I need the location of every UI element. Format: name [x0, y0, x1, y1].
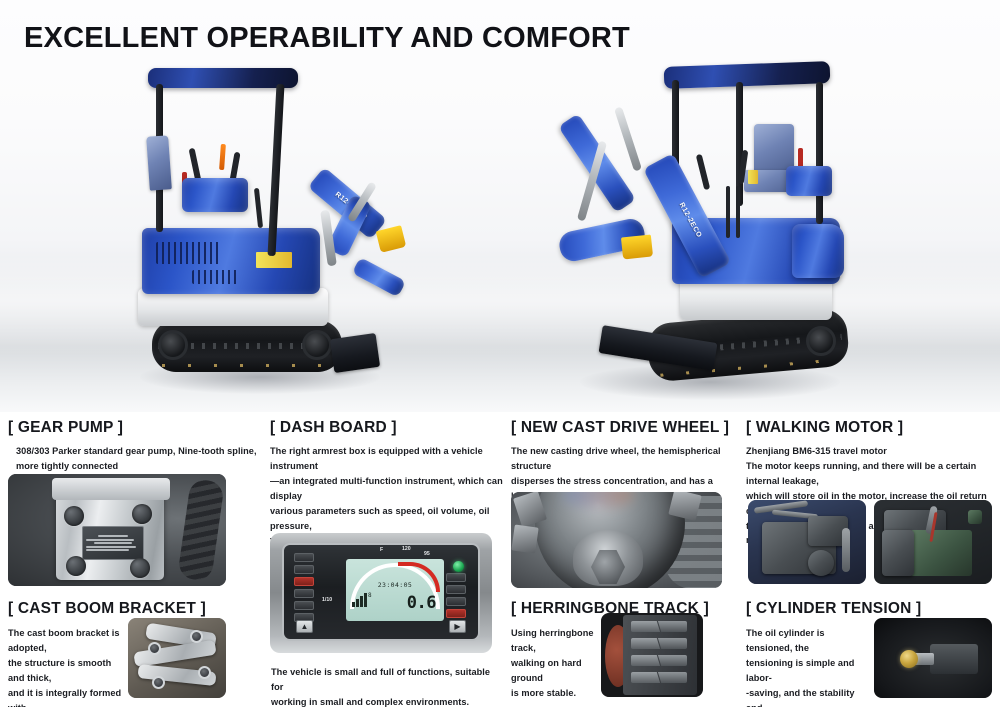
- drive-wheel-photo: [511, 492, 722, 588]
- right-bucket: [621, 234, 653, 259]
- right-canopy-post-rr: [816, 82, 823, 224]
- section-body: The cast boom bracket is adopted, the st…: [8, 626, 126, 707]
- lcd-small-readout: 8: [368, 592, 372, 599]
- pump-bolt: [66, 556, 86, 576]
- body-line: is more stable.: [511, 686, 601, 701]
- body-line: The new casting drive wheel, the hemisph…: [511, 444, 735, 474]
- brochure-page: EXCELLENT OPERABILITY AND COMFORT: [0, 0, 1000, 707]
- tension-cylinder: [930, 644, 978, 674]
- section-title: [ DASH BOARD ]: [270, 419, 506, 437]
- body-line: tensioning is simple and labor-: [746, 656, 866, 686]
- gauge-mark-120: 120: [402, 546, 411, 552]
- right-bucket-cylinder: [614, 106, 642, 171]
- left-side-lever: [254, 188, 263, 228]
- section-title: [ CAST BOOM BRACKET ]: [8, 600, 258, 618]
- bracket-pin-hole: [198, 666, 211, 679]
- track-studs: [162, 364, 332, 367]
- lcd-clock-readout: 23:04:05: [362, 581, 428, 589]
- walking-motor-photo-1: [748, 500, 866, 584]
- body-line: The oil cylinder is tensioned, the: [746, 626, 866, 656]
- left-upper-body: [142, 228, 320, 294]
- body-line: more tightly connected: [16, 459, 258, 474]
- right-sprocket-rear: [806, 326, 836, 356]
- left-operator-seat: [146, 135, 172, 190]
- bracket-pin-hole: [190, 630, 203, 643]
- dashboard-mode-button[interactable]: ▶: [449, 620, 466, 633]
- dashboard-left-indicator-column: [294, 553, 314, 622]
- indicator-lamp-alarm: [446, 609, 466, 618]
- dash-board-caption: The vehicle is small and full of functio…: [271, 665, 505, 707]
- dashboard-photo: ▲ ▶ 1/10 F 120 95 C 23:04:05 8 0.6: [270, 533, 492, 653]
- section-gear-pump: [ GEAR PUMP ] 308/303 Parker standard ge…: [8, 419, 258, 474]
- caption-line: working in small and complex environment…: [271, 695, 505, 707]
- section-title: [ NEW CAST DRIVE WHEEL ]: [511, 419, 735, 437]
- bracket-pin-hole: [148, 642, 161, 655]
- left-canopy-roof: [148, 68, 298, 88]
- dashboard-right-indicator-column: [446, 573, 466, 618]
- section-title: [ GEAR PUMP ]: [8, 419, 258, 437]
- cast-boom-bracket-photo: [128, 618, 226, 698]
- section-title: [ WALKING MOTOR ]: [746, 419, 996, 437]
- section-body: 308/303 Parker standard gear pump, Nine-…: [8, 444, 258, 474]
- grease-fitting-icon: [900, 650, 918, 668]
- body-line: The right armrest box is equipped with a…: [270, 444, 506, 474]
- indicator-lamp: [294, 565, 314, 574]
- body-line: The motor keeps running, and there will …: [746, 459, 996, 489]
- instrument-bezel-inner: ▲ ▶ 1/10 F 120 95 C 23:04:05 8 0.6: [282, 543, 480, 641]
- indicator-lamp: [294, 589, 314, 598]
- left-dipper-arm: [352, 257, 406, 297]
- pump-bolt: [132, 504, 152, 524]
- pump-data-plate: [82, 526, 144, 560]
- left-sprocket-rear: [302, 330, 332, 360]
- sensor-connector: [968, 510, 982, 524]
- indicator-lamp-alarm: [294, 577, 314, 586]
- indicator-lamp: [294, 601, 314, 610]
- lcd-main-value: 0.6: [407, 593, 436, 613]
- left-travel-lever: [219, 144, 226, 170]
- page-title: EXCELLENT OPERABILITY AND COMFORT: [24, 22, 630, 55]
- right-warning-decal: [748, 170, 758, 184]
- gear-pump-photo: [8, 474, 226, 586]
- herringbone-track-photo: [601, 613, 703, 697]
- pump-bolt: [64, 506, 84, 526]
- right-counterweight: [792, 224, 844, 278]
- excavator-left: R12-2ECO: [120, 60, 390, 390]
- gauge-mark-fuel-fraction: 1/10: [322, 597, 332, 603]
- indicator-lamp: [294, 553, 314, 562]
- right-travel-pedals-2: [736, 186, 740, 238]
- cylinder-tension-photo: [874, 618, 992, 698]
- left-dozer-blade: [330, 333, 380, 373]
- gauge-mark-f: F: [380, 547, 383, 553]
- section-title: [ CYLINDER TENSION ]: [746, 600, 996, 618]
- body-line: 308/303 Parker standard gear pump, Nine-…: [16, 444, 258, 459]
- fuel-bargraph: [352, 593, 367, 607]
- body-line: Zhenjiang BM6-315 travel motor: [746, 444, 996, 459]
- left-bucket: [376, 225, 407, 253]
- hydraulic-line: [842, 528, 850, 572]
- body-line: The cast boom bracket is adopted,: [8, 626, 126, 656]
- right-canopy-roof: [664, 61, 831, 89]
- left-control-console: [182, 178, 248, 212]
- pump-flange: [52, 478, 170, 500]
- body-line: —an integrated multi-function instrument…: [270, 474, 506, 504]
- motor-housing: [882, 530, 914, 576]
- indicator-lamp: [446, 597, 466, 606]
- engine-vent-upper: [156, 242, 220, 264]
- right-armrest-console: [786, 166, 832, 196]
- body-line: and it is integrally formed with: [8, 686, 126, 707]
- engine-vent-lower: [192, 270, 238, 284]
- body-line: the structure is smooth and thick,: [8, 656, 126, 686]
- gauge-mark-95: 95: [424, 551, 430, 557]
- body-line: walking on hard ground: [511, 656, 601, 686]
- motor-body-green: [910, 530, 972, 576]
- right-joystick-left: [696, 154, 711, 190]
- section-body: Using herringbone track, walking on hard…: [511, 626, 601, 701]
- body-line: various parameters such as speed, oil vo…: [270, 504, 506, 534]
- excavator-right: R12-2ECO: [540, 58, 880, 398]
- pump-bolt: [130, 558, 150, 578]
- indicator-lamp: [446, 573, 466, 582]
- motor-port-boss: [808, 550, 834, 576]
- bracket-pin-hole: [152, 676, 165, 689]
- hero-banner: EXCELLENT OPERABILITY AND COMFORT: [0, 0, 1000, 412]
- right-travel-pedals: [726, 186, 730, 238]
- body-line: -saving, and the stability and: [746, 686, 866, 707]
- boom-model-decal: R12-2ECO: [678, 202, 703, 240]
- caption-line: The vehicle is small and full of functio…: [271, 665, 505, 695]
- lcd-display: 23:04:05 8 0.6: [346, 559, 444, 621]
- dashboard-up-button[interactable]: ▲: [296, 620, 313, 633]
- wheel-tooth: [511, 524, 538, 553]
- section-body: The oil cylinder is tensioned, the tensi…: [746, 626, 866, 707]
- left-sprocket-front: [158, 330, 188, 360]
- body-line: Using herringbone track,: [511, 626, 601, 656]
- indicator-lamp: [446, 585, 466, 594]
- walking-motor-photo-2: [874, 500, 992, 584]
- power-led-icon: [453, 561, 464, 572]
